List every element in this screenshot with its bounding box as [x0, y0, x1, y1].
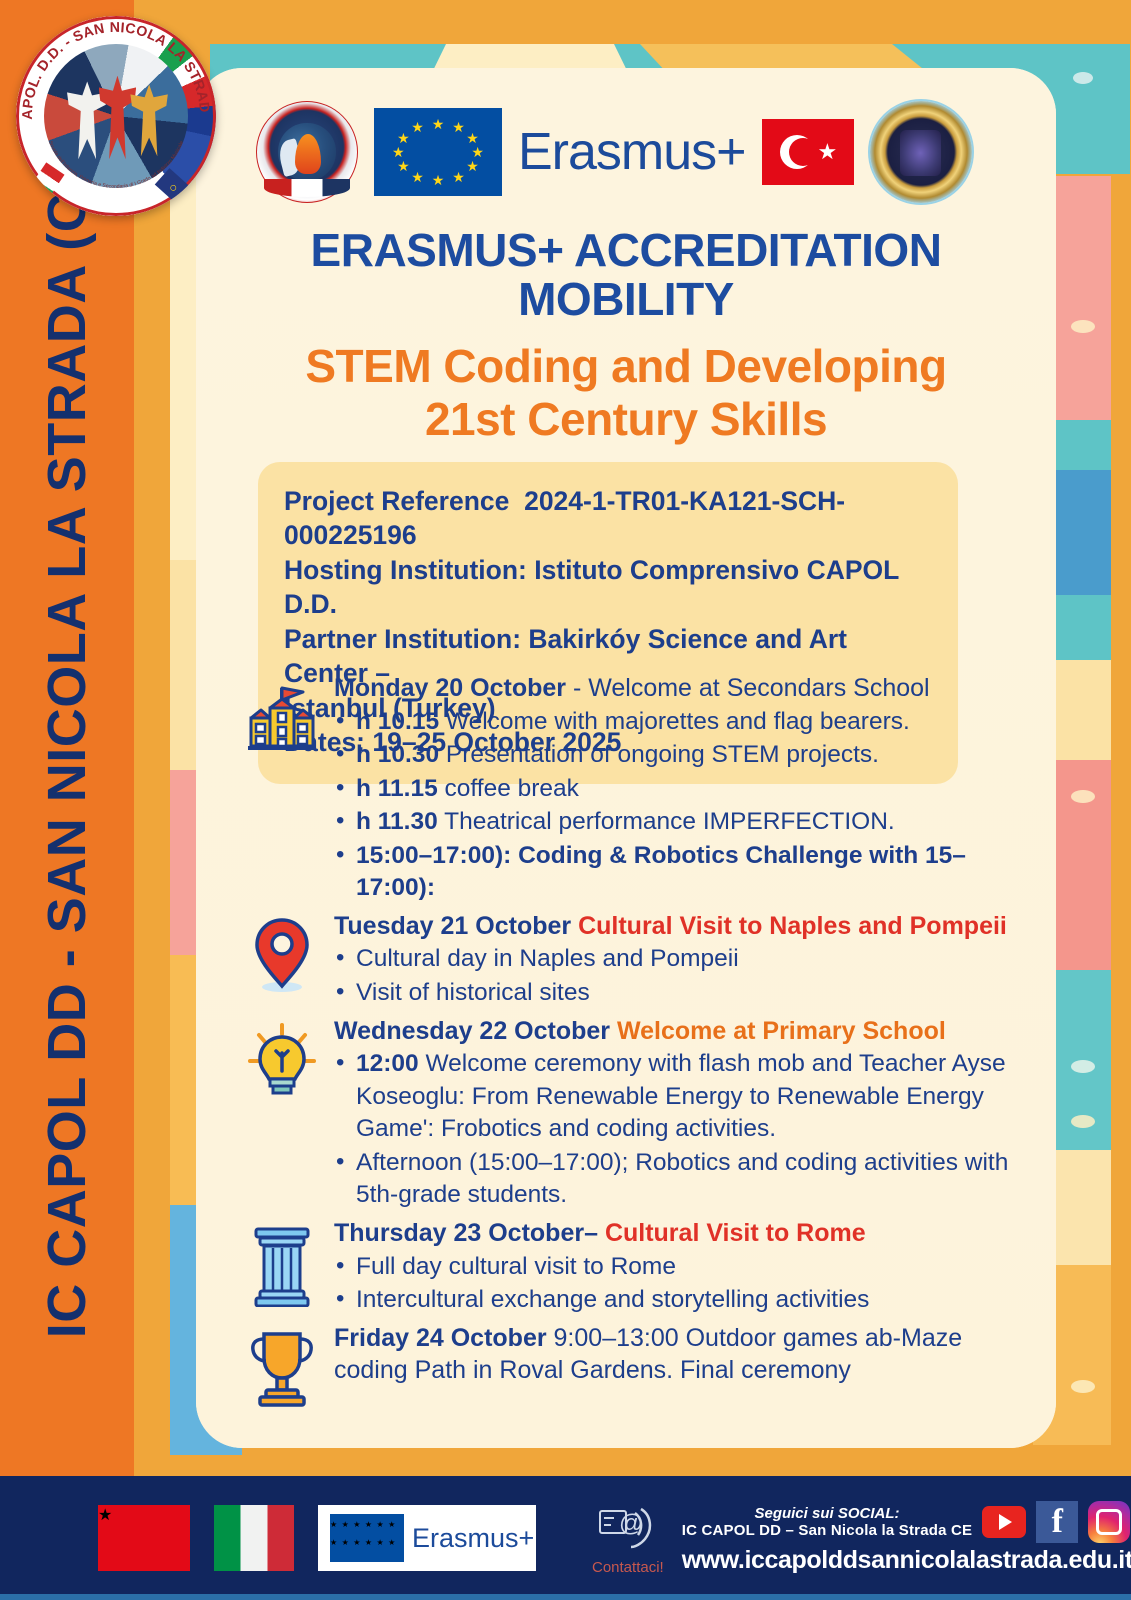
decorative-dot [1071, 790, 1095, 803]
erasmus-plus-logo-box: ★ ★ ★ ★ ★ ★ ★ ★ ★ ★ ★ ★ Erasmus+ [318, 1505, 536, 1571]
bullet-time: 12:00 [356, 1050, 419, 1077]
schedule-day-friday: Friday 24 October 9:00–13:00 Outdoor gam… [230, 1322, 1030, 1408]
star-shape: ★ [818, 141, 838, 163]
schedule-day-heading: Tuesday 21 October Cultural Visit to Nap… [334, 910, 1026, 943]
star-shape: ★ [98, 1507, 112, 1524]
schedule-day-heading: Friday 24 October 9:00–13:00 Outdoor gam… [334, 1322, 1026, 1387]
list-item: Cultural day in Naples and Pompeii [334, 943, 1026, 976]
bullet-time: h 10.30 [356, 741, 439, 768]
list-item: h 11.15 coffee break [334, 773, 1026, 806]
schedule-day-tuesday: Tuesday 21 October Cultural Visit to Nap… [230, 910, 1030, 1011]
decorative-dot [1071, 320, 1095, 333]
schedule-bullets: Cultural day in Naples and Pompeii Visit… [334, 943, 1026, 1009]
schedule-day-body: Thursday 23 October– Cultural Visit to R… [334, 1217, 1030, 1318]
contact-label: Contattaci! [592, 1559, 664, 1576]
instagram-icon[interactable] [1088, 1501, 1130, 1543]
bullet-text: Cultural day in Naples and Pompeii [356, 945, 739, 972]
bullet-text: Welcome with majorettes and flag bearers… [439, 708, 910, 735]
day-name: Thursday 23 October– [334, 1219, 598, 1247]
day-headline: Cultural Visit to Rome [605, 1219, 866, 1247]
figure-red-icon [99, 76, 136, 160]
decorative-dot [1073, 72, 1093, 84]
bullet-time: h 11.15 [356, 775, 438, 802]
bakirkoy-seal-icon [870, 101, 972, 203]
lightbulb-icon [230, 1015, 334, 1103]
day-headline: Cultural Visit to Naples and Pompeii [578, 912, 1007, 940]
bullet-time: h 10.15 [356, 708, 439, 735]
schedule-day-heading: Wednesday 22 October Welcome at Primary … [334, 1015, 1026, 1048]
bullet-text: Intercultural exchange and storytelling … [356, 1286, 869, 1313]
contact-phone-icon: @ [597, 1501, 659, 1557]
bullet-text: Presentation of ongoing STEM projects. [439, 741, 879, 768]
page-title: ERASMUS+ ACCREDITATION MOBILITY [236, 226, 1016, 324]
decorative-dot [1071, 1115, 1095, 1128]
day-headline: Welcome at Secondars School [588, 674, 929, 702]
schedule-day-body: Tuesday 21 October Cultural Visit to Nap… [334, 910, 1030, 1011]
title-line-2: MOBILITY [236, 275, 1016, 324]
list-item: Afternoon (15:00–17:00); Robotics and co… [334, 1147, 1026, 1212]
left-sidebar: IC CAPOL DD - SAN NICOLA LA STRADA (CE) [0, 0, 134, 1476]
bullet-text: Full day cultural visit to Rome [356, 1253, 676, 1280]
school-building-icon [230, 672, 334, 756]
bullet-text: Welcome ceremony with flash mob and Teac… [356, 1050, 1006, 1142]
bullet-time: h 11.30 [356, 808, 438, 835]
day-name: Wednesday 22 October [334, 1017, 610, 1045]
schedule-bullets: Full day cultural visit to Rome Intercul… [334, 1251, 1026, 1317]
day-separator: - [566, 674, 588, 702]
social-handle: IC CAPOL DD – San Nicola la Strada CE [682, 1522, 973, 1539]
day-separator [610, 1017, 617, 1045]
day-separator [547, 1324, 554, 1352]
schedule-list: Monday 20 October - Welcome at Secondars… [230, 672, 1030, 1412]
youtube-icon[interactable] [982, 1506, 1026, 1538]
list-item: Intercultural exchange and storytelling … [334, 1284, 1026, 1317]
bullet-time: 15:00–17:00): [356, 842, 511, 869]
social-block: Seguici sui SOCIAL: IC CAPOL DD – San Ni… [682, 1501, 1131, 1575]
day-separator [598, 1219, 605, 1247]
footer-bar: ★ ★ ★ ★ ★ ★ ★ ★ ★ ★ ★ ★ ★ Erasmus+ [0, 1476, 1131, 1600]
schedule-day-body: Friday 24 October 9:00–13:00 Outdoor gam… [334, 1322, 1030, 1387]
list-item: Full day cultural visit to Rome [334, 1251, 1026, 1284]
schedule-day-monday: Monday 20 October - Welcome at Secondars… [230, 672, 1030, 906]
schedule-day-wednesday: Wednesday 22 October Welcome at Primary … [230, 1015, 1030, 1213]
list-item: 12:00 Welcome ceremony with flash mob an… [334, 1048, 1026, 1146]
social-text: Seguici sui SOCIAL: IC CAPOL DD – San Ni… [682, 1505, 973, 1539]
roman-column-icon [230, 1217, 334, 1307]
main-content-card: ★ ★ ★ ★ ★ ★ ★ ★ ★ ★ ★ ★ Erasmus+ ★ E [196, 68, 1056, 1448]
schedule-day-heading: Monday 20 October - Welcome at Secondars… [334, 672, 1026, 705]
day-headline: Welcome at Primary School [617, 1017, 946, 1045]
list-item: 15:00–17:00): Coding & Robotics Challeng… [334, 840, 1026, 905]
crescent-shape [780, 135, 814, 169]
page-subtitle: STEM Coding and Developing 21st Century … [236, 340, 1016, 446]
location-pin-icon [230, 910, 334, 994]
bullet-text: Visit of historical sites [356, 979, 590, 1006]
list-item: h 10.15 Welcome with majorettes and flag… [334, 706, 1026, 739]
turkey-flag-icon: ★ [762, 119, 854, 185]
list-item: h 10.30 Presentation of ongoing STEM pro… [334, 739, 1026, 772]
day-name: Friday 24 October [334, 1324, 547, 1352]
erasmus-plus-wordmark: Erasmus+ [518, 122, 746, 182]
bullet-text: Theatrical performance IMPERFECTION. [438, 808, 895, 835]
badge-inner-disc [44, 44, 188, 188]
decorative-dot [1071, 1060, 1095, 1073]
schedule-day-body: Wednesday 22 October Welcome at Primary … [334, 1015, 1030, 1213]
subtitle-line-2: 21st Century Skills [236, 393, 1016, 446]
logo-row: ★ ★ ★ ★ ★ ★ ★ ★ ★ ★ ★ ★ Erasmus+ ★ [256, 98, 1016, 206]
decorative-dot [1071, 1380, 1095, 1393]
facebook-icon[interactable]: f [1036, 1501, 1078, 1543]
trophy-icon [230, 1322, 334, 1408]
day-name: Monday 20 October [334, 674, 566, 702]
sidebar-school-name: IC CAPOL DD - SAN NICOLA LA STRADA (CE) [0, 0, 134, 1476]
italy-flag-icon [214, 1505, 294, 1571]
schedule-day-heading: Thursday 23 October– Cultural Visit to R… [334, 1217, 1026, 1250]
schedule-bullets: 12:00 Welcome ceremony with flash mob an… [334, 1048, 1026, 1212]
turkish-ministry-seal-icon [256, 101, 358, 203]
list-item: h 11.30 Theatrical performance IMPERFECT… [334, 806, 1026, 839]
list-item: Visit of historical sites [334, 977, 1026, 1010]
eu-flag-icon: ★ ★ ★ ★ ★ ★ ★ ★ ★ ★ ★ ★ [330, 1514, 404, 1562]
schedule-day-body: Monday 20 October - Welcome at Secondars… [334, 672, 1030, 906]
social-row: Seguici sui SOCIAL: IC CAPOL DD – San Ni… [682, 1501, 1131, 1543]
subtitle-line-1: STEM Coding and Developing [236, 340, 1016, 393]
figure-gold-icon [130, 84, 167, 156]
day-name: Tuesday 21 October [334, 912, 571, 940]
website-url[interactable]: www.iccapolddsannicolalastrada.edu.it [682, 1546, 1131, 1575]
eu-flag-icon: ★ ★ ★ ★ ★ ★ ★ ★ ★ ★ ★ ★ [374, 108, 502, 196]
title-line-1: ERASMUS+ ACCREDITATION [236, 226, 1016, 275]
school-badge-logo: I.C. CAPOL. D.D. - SAN NICOLA LA STRADA … [16, 16, 216, 216]
seal-ribbon-shape [264, 179, 350, 197]
poster-root: IC CAPOL DD - SAN NICOLA LA STRADA (CE) … [0, 0, 1131, 1600]
schedule-day-thursday: Thursday 23 October– Cultural Visit to R… [230, 1217, 1030, 1318]
footer-bottom-accent [0, 1594, 1131, 1600]
follow-label: Seguici sui SOCIAL: [754, 1505, 899, 1522]
bullet-text: Afternoon (15:00–17:00); Robotics and co… [356, 1149, 1008, 1209]
schedule-bullets: h 10.15 Welcome with majorettes and flag… [334, 706, 1026, 905]
bullet-text: coffee break [438, 775, 579, 802]
erasmus-plus-wordmark: Erasmus+ [412, 1523, 534, 1554]
turkey-flag-icon: ★ [98, 1505, 190, 1571]
contact-block: @ Contattaci! [592, 1501, 664, 1576]
seal-flame-shape [295, 134, 322, 175]
